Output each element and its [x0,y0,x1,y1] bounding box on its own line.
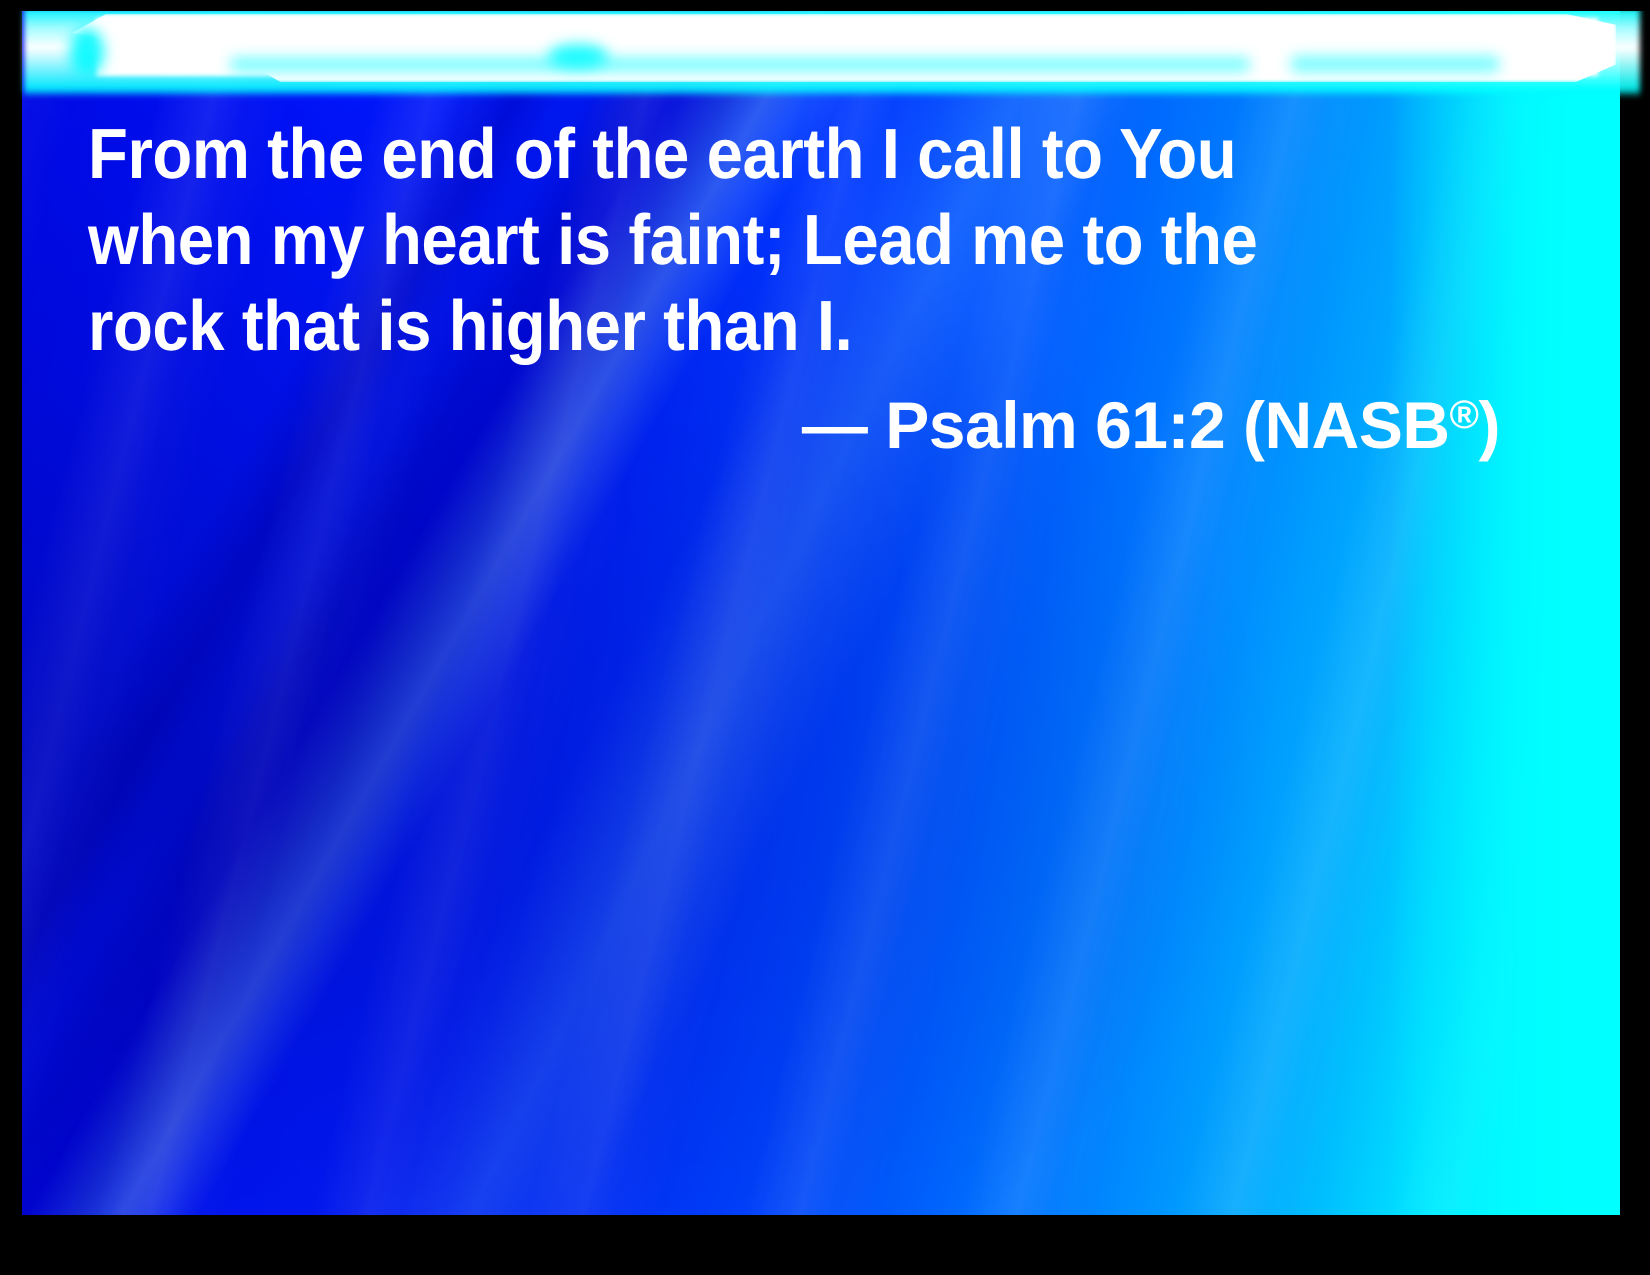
verse-lines: From the end of the earth I call to You … [88,112,1388,370]
top-black-edge [0,0,1650,11]
registered-trademark-icon: ® [1450,393,1479,437]
top-bar-cyan-streak [230,58,1250,71]
attribution-book: Psalm [885,388,1077,462]
top-bar-cyan-blob [548,44,608,68]
top-bar-cyan-accent-left [70,28,104,76]
attribution-dash: — [802,388,868,462]
attribution-translation-close: ) [1479,388,1500,462]
verse-line-2: when my heart is faint; Lead me to the [88,198,1284,284]
verse-line-1: From the end of the earth I call to You [88,112,1284,198]
scripture-slide: From the end of the earth I call to You … [0,0,1650,1275]
top-glow-bar [0,0,1650,130]
top-bar-cyan-streak-right [1290,56,1500,72]
verse-attribution: — Psalm 61:2 (NASB®) [0,375,1500,465]
attribution-translation-open: (NASB [1243,388,1450,462]
attribution-chapter-verse: 61:2 [1095,388,1225,462]
verse-line-3: rock that is higher than I. [88,284,1284,370]
